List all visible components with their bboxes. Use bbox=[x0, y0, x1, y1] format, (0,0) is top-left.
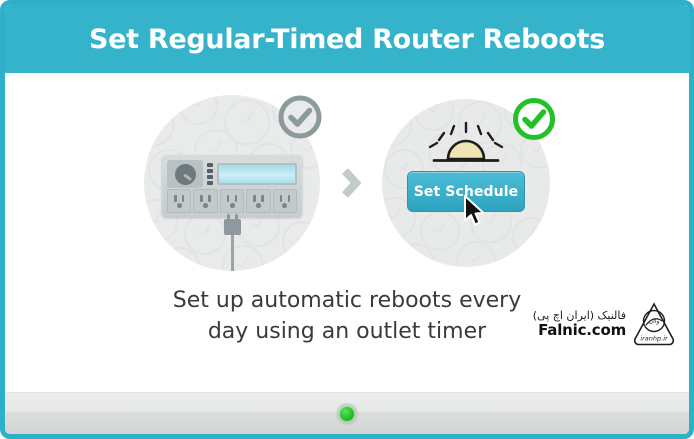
power-strip-controls bbox=[167, 160, 297, 188]
check-circle-icon-gray bbox=[276, 93, 324, 141]
page-title: Set Regular-Timed Router Reboots bbox=[89, 24, 605, 55]
power-led-indicator bbox=[336, 403, 358, 425]
timer-buttons bbox=[207, 163, 213, 186]
outlet-socket bbox=[246, 189, 270, 213]
sunrise-icon bbox=[418, 121, 514, 169]
watermark-site-name: Falnic.com bbox=[533, 322, 626, 339]
device-bottom-bar bbox=[5, 392, 689, 434]
screenshot-frame: Set Regular-Timed Router Reboots bbox=[0, 0, 694, 439]
watermark-logo-text: iranhp.ir bbox=[640, 335, 669, 343]
illustration-row: Set Schedule bbox=[5, 83, 689, 283]
timer-lcd-display bbox=[217, 163, 297, 185]
svg-text:واان: واان bbox=[649, 318, 660, 325]
power-led-core bbox=[340, 407, 354, 421]
timer-dial-knob bbox=[175, 164, 196, 185]
content-stage: Set Schedule bbox=[5, 73, 689, 393]
outlet-timer-panel bbox=[144, 95, 320, 271]
watermark-text: فالنیک (ایران اچ پی) Falnic.com bbox=[533, 309, 626, 339]
header-banner: Set Regular-Timed Router Reboots bbox=[5, 5, 689, 73]
outlet-socket bbox=[167, 189, 191, 213]
chevron-right-icon bbox=[338, 163, 364, 203]
outlet-socket bbox=[220, 189, 244, 213]
watermark-logo-icon: واان iranhp.ir bbox=[631, 301, 677, 347]
timer-dial-housing bbox=[167, 160, 203, 188]
mouse-pointer-icon bbox=[462, 195, 488, 229]
outlet-sockets bbox=[167, 189, 297, 213]
power-strip-device bbox=[162, 155, 302, 217]
outlet-socket bbox=[193, 189, 217, 213]
power-plug-icon bbox=[224, 219, 241, 235]
outlet-socket bbox=[273, 189, 297, 213]
check-circle-icon-green bbox=[510, 95, 558, 143]
set-schedule-panel: Set Schedule bbox=[382, 99, 550, 267]
watermark: فالنیک (ایران اچ پی) Falnic.com واان ira… bbox=[533, 301, 677, 347]
